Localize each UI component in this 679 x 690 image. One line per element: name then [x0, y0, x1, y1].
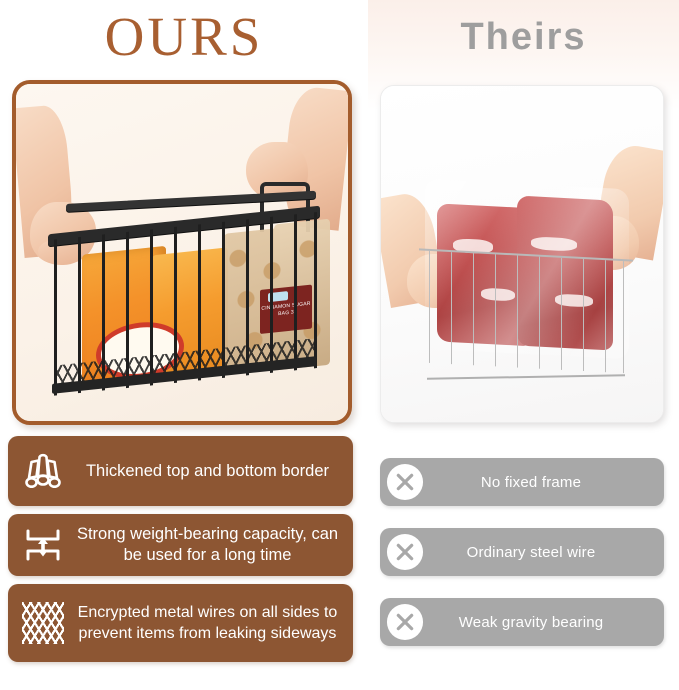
- basket-wire: [517, 256, 518, 368]
- ours-panel: OURS CINNA: [0, 0, 368, 690]
- ours-product-photo: CINNAMON SUGAR BAG 3: [12, 80, 352, 425]
- theirs-feature-item: No fixed frame: [380, 458, 664, 506]
- basket-wire: [314, 212, 317, 368]
- basket-bottom-rim: [427, 374, 625, 379]
- ours-feature-item: Thickened top and bottom border: [8, 436, 353, 506]
- plastic-wrap-sheen: [425, 179, 629, 360]
- basket-wire: [451, 252, 452, 364]
- metal-mesh-icon: [16, 596, 70, 650]
- theirs-title: Theirs: [368, 14, 679, 60]
- ours-feature-text: Encrypted metal wires on all sides to pr…: [70, 602, 345, 644]
- cinnamon-sugar-tag: CINNAMON SUGAR BAG 3: [260, 285, 312, 334]
- ours-feature-item: Encrypted metal wires on all sides to pr…: [8, 584, 353, 662]
- basket-wire: [429, 251, 430, 363]
- basket-wire: [539, 257, 540, 369]
- x-circle-icon: [386, 603, 424, 641]
- comparison-infographic: OURS CINNA: [0, 0, 679, 690]
- thin-wire-basket: [419, 248, 633, 389]
- basket-wire: [561, 258, 562, 370]
- basket-wire: [605, 260, 606, 372]
- thick-wire-border-icon: [16, 444, 70, 498]
- x-circle-icon: [386, 463, 424, 501]
- ours-feature-text: Thickened top and bottom border: [70, 461, 345, 482]
- black-wire-basket: CINNAMON SUGAR BAG 3: [38, 212, 328, 392]
- x-circle-icon: [386, 533, 424, 571]
- ours-feature-list: Thickened top and bottom border: [8, 436, 353, 670]
- weight-bearing-arrows-icon: [16, 518, 70, 572]
- theirs-feature-list: No fixed frame Ordinary steel wire: [380, 458, 664, 668]
- basket-wire: [473, 253, 474, 365]
- basket-wire: [495, 254, 496, 366]
- ours-feature-text: Strong weight-bearing capacity, can be u…: [70, 524, 345, 566]
- ours-title: OURS: [0, 6, 368, 68]
- basket-wire: [623, 261, 624, 373]
- theirs-feature-item: Ordinary steel wire: [380, 528, 664, 576]
- cinnamon-tag-line2: BAG 3: [278, 309, 294, 317]
- basket-body: CINNAMON SUGAR BAG 3: [48, 206, 320, 395]
- theirs-feature-item: Weak gravity bearing: [380, 598, 664, 646]
- basket-wire: [583, 259, 584, 371]
- theirs-product-photo: [380, 85, 664, 423]
- theirs-panel: Theirs: [368, 0, 679, 690]
- ours-feature-item: Strong weight-bearing capacity, can be u…: [8, 514, 353, 576]
